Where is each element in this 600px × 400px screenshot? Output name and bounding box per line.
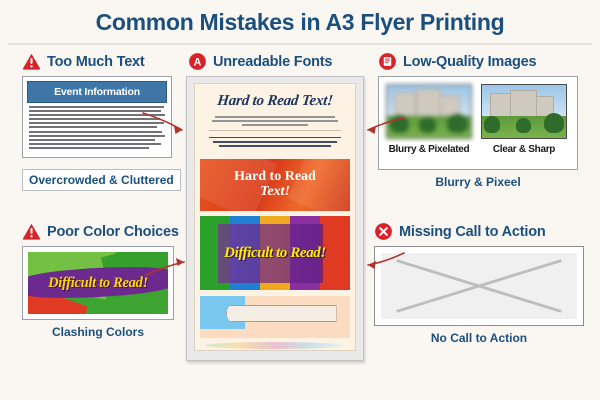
clashing-colors-card: Difficult to Read!	[22, 246, 174, 320]
orange-line-1: Hard to Read	[234, 170, 316, 185]
image-circle-icon	[378, 52, 397, 71]
flyer-orange-text: Hard to Read Text!	[200, 159, 350, 211]
panel-title: Missing Call to Action	[399, 224, 546, 240]
tree	[516, 118, 531, 133]
dense-body-text	[27, 106, 167, 149]
panel-caption: Blurry & Pixeel	[378, 175, 578, 189]
flyer-script-heading: Hard to Read Text!	[202, 93, 348, 110]
image-label: Clear & Sharp	[481, 144, 567, 155]
flyer-mockup: Hard to Read Text! Hard to Read Text!	[186, 76, 364, 361]
panel-header: Too Much Text	[22, 52, 172, 71]
panel-caption: Overcrowded & Cluttered	[22, 169, 181, 191]
sharp-photo	[481, 84, 567, 139]
panel-header: Poor Color Choices	[22, 222, 174, 241]
flyer-orange-band: Hard to Read Text!	[200, 159, 350, 211]
image-cell-blurry: Blurry & Pixelated	[386, 84, 472, 155]
tree	[544, 113, 564, 133]
arrowhead	[368, 126, 376, 134]
building	[394, 92, 416, 117]
panel-missing-call-to-action: Missing Call to Action No Call to Action	[374, 222, 584, 345]
title-bar: Common Mistakes in A3 Flyer Printing	[0, 0, 600, 44]
caption-wrap: Overcrowded & Cluttered	[22, 164, 172, 191]
image-comparison-card: Blurry & Pixelated Clear & Sharp	[378, 76, 578, 170]
title-divider	[8, 43, 592, 45]
building	[416, 89, 441, 118]
building	[510, 90, 537, 118]
tree	[390, 115, 408, 133]
image-row: Blurry & Pixelated Clear & Sharp	[386, 84, 570, 155]
panel-unreadable-fonts: A Unreadable Fonts Hard to Read Text!	[186, 52, 364, 361]
flyer-micro-text	[203, 116, 347, 126]
empty-cta-card	[374, 246, 584, 326]
infographic-canvas: Common Mistakes in A3 Flyer Printing Too…	[0, 0, 600, 400]
image-cell-sharp: Clear & Sharp	[481, 84, 567, 155]
flyer-divider	[209, 130, 341, 131]
panel-title: Too Much Text	[47, 54, 145, 70]
panel-poor-color-choices: Poor Color Choices Difficult to Read! Cl…	[22, 222, 174, 339]
sample-text: Difficult to Read!	[28, 252, 168, 314]
letter-a-circle-icon: A	[188, 52, 207, 71]
tree	[419, 117, 436, 133]
building	[490, 93, 510, 117]
x-circle-icon	[374, 222, 393, 241]
flyer-header-section: Hard to Read Text!	[195, 84, 355, 155]
blurry-photo	[386, 84, 472, 139]
page-title: Common Mistakes in A3 Flyer Printing	[96, 9, 505, 36]
arrowhead	[176, 258, 184, 266]
orange-line-2: Text!	[260, 185, 290, 200]
panel-caption: Clashing Colors	[22, 325, 174, 339]
panel-too-much-text: Too Much Text Event Information Overcrow…	[22, 52, 172, 191]
flyer-page: Hard to Read Text! Hard to Read Text!	[194, 83, 356, 351]
image-label: Blurry & Pixelated	[386, 144, 472, 155]
tree	[484, 116, 501, 133]
arrowhead	[174, 126, 182, 134]
warning-triangle-icon	[22, 52, 41, 71]
warning-triangle-icon	[22, 222, 41, 241]
panel-title: Poor Color Choices	[47, 224, 179, 240]
flyer-rainbow-band: Difficult to Read!	[200, 216, 350, 290]
empty-placeholder	[381, 253, 577, 319]
flyer-rainbow-text: Difficult to Read!	[200, 216, 350, 290]
tree	[447, 114, 467, 133]
panel-caption: No Call to Action	[374, 331, 584, 345]
clashing-colors-sample: Difficult to Read!	[28, 252, 168, 314]
flyer-micro-text	[203, 137, 347, 147]
panel-header: Missing Call to Action	[374, 222, 584, 241]
cross-out-icon	[381, 253, 577, 319]
event-info-header: Event Information	[27, 81, 167, 103]
flyer-bottom-section	[200, 296, 350, 338]
panel-title: Unreadable Fonts	[213, 54, 332, 70]
panel-title: Low-Quality Images	[403, 54, 536, 70]
banner-shape	[226, 305, 337, 323]
event-info-card: Event Information	[22, 76, 172, 158]
panel-header: A Unreadable Fonts	[186, 52, 364, 71]
svg-text:A: A	[194, 57, 202, 69]
flyer-footer-strip	[205, 342, 346, 349]
panel-low-quality-images: Low-Quality Images Blurry & Pixelated	[378, 52, 578, 189]
panel-header: Low-Quality Images	[378, 52, 578, 71]
